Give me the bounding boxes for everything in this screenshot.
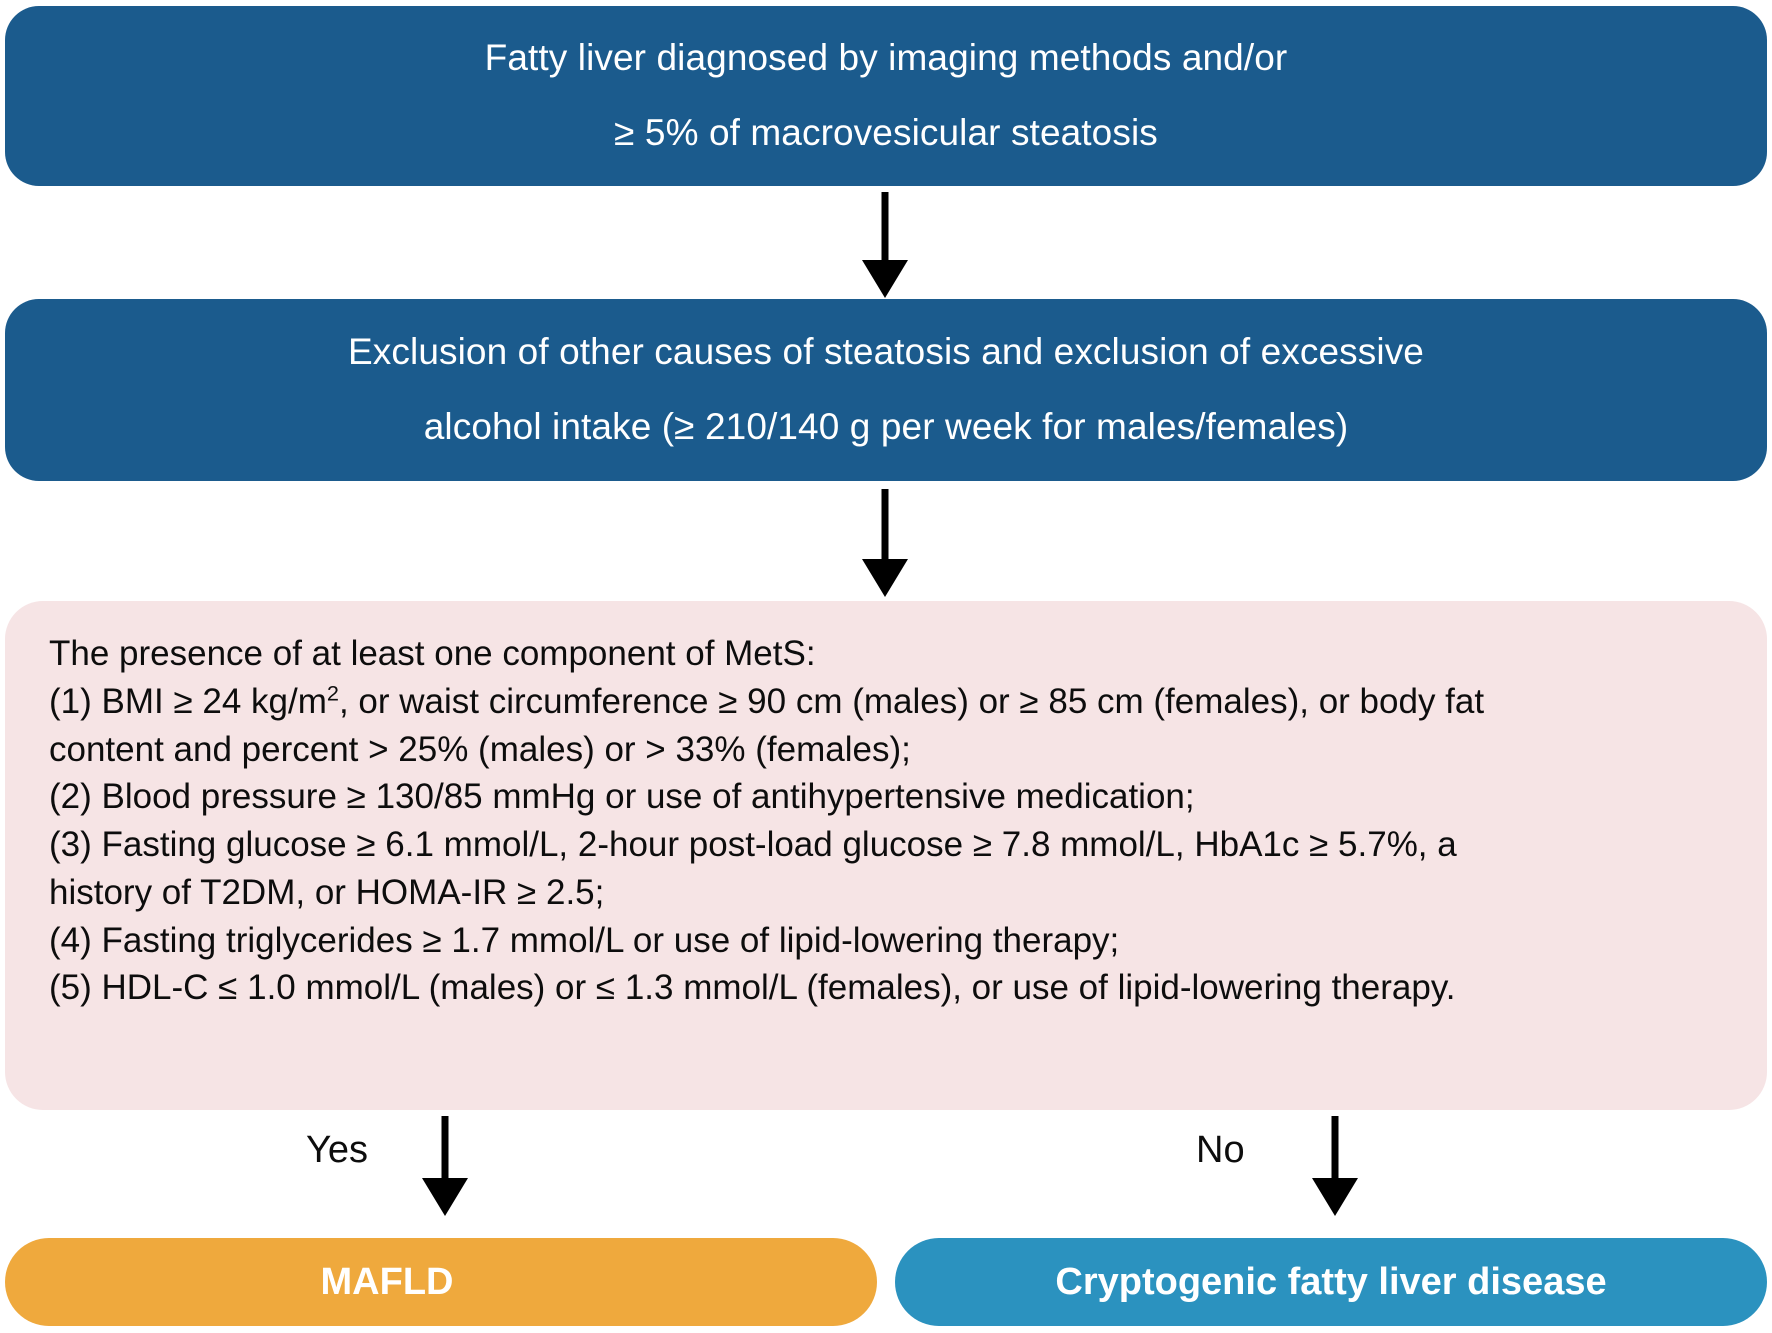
arrow-down-step2-to-step3 — [845, 487, 925, 599]
node-outcome-cryptogenic-fatty-liver-disease: Cryptogenic fatty liver disease — [895, 1238, 1767, 1326]
mets-criterion-1-text-after: , or waist circumference ≥ 90 cm (males)… — [339, 682, 1484, 721]
node-outcome-cryptogenic-label: Cryptogenic fatty liver disease — [1055, 1263, 1606, 1301]
node-fatty-liver-line-2: ≥ 5% of macrovesicular steatosis — [65, 114, 1707, 153]
mets-criterion-2: (2) Blood pressure ≥ 130/85 mmHg or use … — [49, 773, 1723, 821]
mets-criterion-4: (4) Fasting triglycerides ≥ 1.7 mmol/L o… — [49, 917, 1723, 965]
mets-heading: The presence of at least one component o… — [49, 630, 1723, 678]
branch-label-yes: Yes — [306, 1131, 368, 1169]
node-exclusion-line-1: Exclusion of other causes of steatosis a… — [65, 333, 1707, 372]
node-exclusion-criteria: Exclusion of other causes of steatosis a… — [5, 299, 1767, 481]
mets-criterion-3-continued: history of T2DM, or HOMA-IR ≥ 2.5; — [49, 869, 1723, 917]
mets-criterion-1-superscript: 2 — [327, 680, 339, 705]
branch-label-no: No — [1196, 1131, 1245, 1169]
arrow-down-yes-to-mafld — [405, 1114, 485, 1219]
node-fatty-liver-line-1: Fatty liver diagnosed by imaging methods… — [65, 39, 1707, 78]
flowchart-canvas: Fatty liver diagnosed by imaging methods… — [0, 0, 1772, 1333]
arrow-down-step1-to-step2 — [845, 190, 925, 300]
node-outcome-mafld: MAFLD — [5, 1238, 877, 1326]
mets-criterion-1: (1) BMI ≥ 24 kg/m2, or waist circumferen… — [49, 678, 1723, 726]
arrow-down-no-to-cryptogenic — [1295, 1114, 1375, 1219]
node-outcome-mafld-label: MAFLD — [321, 1263, 454, 1301]
mets-criterion-1-text-before: (1) BMI ≥ 24 kg/m — [49, 682, 327, 721]
mets-criterion-1-continued: content and percent > 25% (males) or > 3… — [49, 726, 1723, 774]
mets-criterion-5: (5) HDL-C ≤ 1.0 mmol/L (males) or ≤ 1.3 … — [49, 964, 1723, 1012]
mets-criterion-3: (3) Fasting glucose ≥ 6.1 mmol/L, 2-hour… — [49, 821, 1723, 869]
node-exclusion-line-2: alcohol intake (≥ 210/140 g per week for… — [65, 408, 1707, 447]
node-mets-components: The presence of at least one component o… — [5, 601, 1767, 1110]
node-fatty-liver-diagnosis: Fatty liver diagnosed by imaging methods… — [5, 6, 1767, 186]
